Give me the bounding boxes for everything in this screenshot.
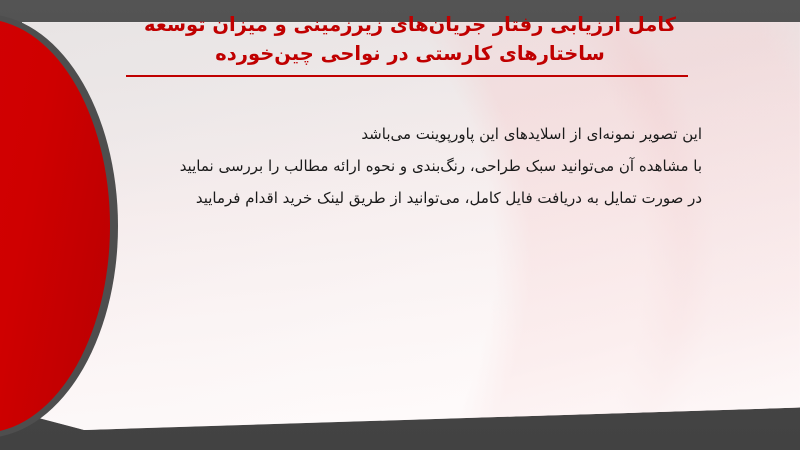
background-band-5: [22, 22, 800, 430]
body-line-3: در صورت تمایل به دریافت فایل کامل، می‌تو…: [110, 182, 702, 214]
slide-title: کامل ارزیابی رفتار جریان‌های زیرزمینی و …: [120, 10, 700, 77]
background-curved-bands: [22, 22, 800, 430]
body-line-2: با مشاهده آن می‌توانید سبک طراحی، رنگ‌بن…: [110, 150, 702, 182]
background-band-3: [22, 22, 800, 430]
title-divider-rule: [126, 75, 688, 77]
slide-body-text: این تصویر نمونه‌ای از اسلایدهای این پاور…: [110, 118, 702, 214]
body-line-1: این تصویر نمونه‌ای از اسلایدهای این پاور…: [110, 118, 702, 150]
title-line-1: کامل ارزیابی رفتار جریان‌های زیرزمینی و …: [120, 10, 700, 39]
background-band-4: [22, 22, 800, 430]
presentation-slide: کامل ارزیابی رفتار جریان‌های زیرزمینی و …: [0, 0, 800, 450]
panel-gradient-overlay: [22, 22, 800, 430]
slide-content-panel: [22, 22, 800, 430]
background-band-1: [22, 22, 768, 430]
background-band-2: [22, 22, 800, 430]
background-band-6: [22, 22, 800, 430]
title-line-2: ساختارهای کارستی در نواحی چین‌خورده: [120, 39, 700, 68]
